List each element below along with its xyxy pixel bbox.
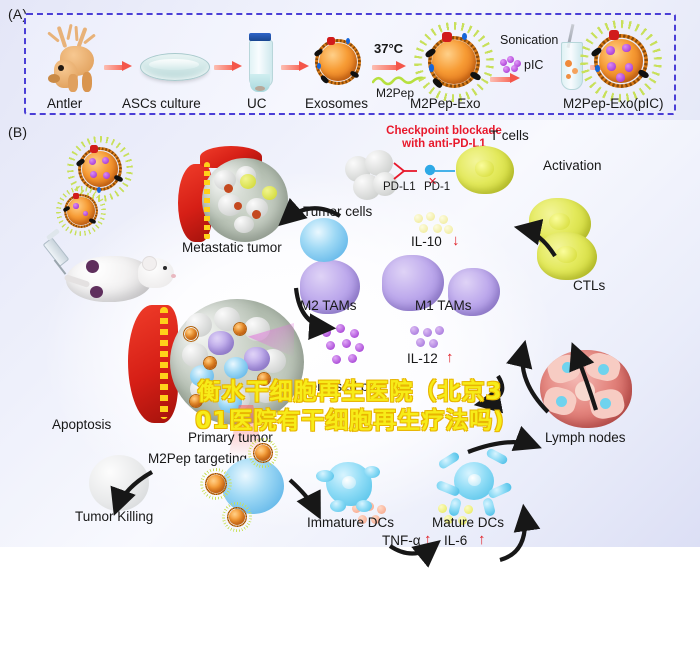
label-exosomes: Exosomes: [305, 96, 368, 111]
label-ascs-culture: ASCs culture: [122, 96, 201, 111]
centrifuge-tube-illustration: [249, 33, 271, 93]
label-il10: IL-10: [411, 234, 442, 249]
apoptotic-cell-illustration: [89, 455, 149, 511]
il12-up-arrow-icon: ↑: [446, 349, 454, 366]
primary-tumor-illustration: [128, 295, 318, 435]
label-apoptosis: Apoptosis: [52, 417, 111, 432]
label-sonication: Sonication: [500, 33, 558, 47]
panel-b-letter: (B): [8, 124, 27, 140]
m2pep-exosome-illustration: [424, 32, 484, 92]
label-m1-tams: M1 TAMs: [415, 298, 472, 313]
label-uc: UC: [247, 96, 267, 111]
arrow-culture-to-uc: [214, 62, 242, 71]
label-il6: IL-6: [444, 533, 467, 548]
label-metastatic-tumor: Metastatic tumor: [182, 240, 282, 255]
label-tumor-cells: Tumor cells: [303, 204, 372, 219]
label-m2pep-exo: M2Pep-Exo: [410, 96, 481, 111]
monocyte-cell: [300, 218, 348, 262]
il12-cytokine-cluster: [408, 326, 448, 352]
arrow-uc-to-exosomes: [281, 62, 309, 71]
tumor-cells-illustration: [343, 150, 399, 202]
metastatic-tumor-illustration: [178, 142, 298, 250]
ctl-cell-2: [537, 232, 597, 280]
label-m2pep: M2Pep: [376, 86, 414, 100]
label-mature-dcs: Mature DCs: [432, 515, 504, 530]
targeting-exosome-3: [226, 506, 248, 528]
panel-b: (B): [0, 120, 700, 547]
label-m2pep-exo-pic: M2Pep-Exo(pIC): [563, 96, 664, 111]
label-pd1: PD-1: [424, 181, 450, 193]
immature-dc-illustration: [316, 452, 382, 516]
label-activation: Activation: [543, 158, 602, 173]
label-pdl1: PD-L1: [383, 181, 416, 193]
antler-illustration: [42, 24, 120, 94]
targeting-exosome-1: [252, 442, 274, 464]
arrow-m2pepexo-to-sonication: [490, 74, 520, 83]
il10-down-arrow-icon: ↓: [452, 232, 460, 249]
label-released-pic: Released pIC: [300, 379, 382, 394]
label-immature-dcs: Immature DCs: [307, 515, 394, 530]
injected-exosome-small: [62, 192, 100, 230]
label-temperature: 37°C: [374, 41, 403, 56]
t-cell-illustration: [456, 146, 514, 194]
released-pic-cluster: [322, 324, 368, 370]
label-ctls: CTLs: [573, 278, 605, 293]
targeting-exosome-2: [204, 472, 228, 496]
mature-dc-illustration: [436, 446, 512, 516]
label-lymph-nodes: Lymph nodes: [545, 430, 626, 445]
figure-root: (A) Antler ASCs culture UC: [0, 0, 700, 547]
label-t-cells: T cells: [490, 128, 529, 143]
m2pep-exo-pic-illustration: [590, 30, 652, 92]
checkpoint-line-1: Checkpoint blockade: [386, 125, 502, 137]
arrow-exosome-to-m2pepexo: [372, 62, 406, 71]
lymph-node-illustration: [540, 350, 632, 428]
panel-a: (A) Antler ASCs culture UC: [0, 0, 700, 120]
arrow-antler-to-culture: [104, 62, 132, 71]
tnf-up-arrow-icon: ↑: [424, 531, 432, 548]
petri-dish-illustration: [140, 53, 210, 81]
il6-up-arrow-icon: ↑: [478, 531, 486, 548]
label-il12: IL-12: [407, 351, 438, 366]
pdl1-receptor-icon: [392, 160, 418, 182]
label-tumor-killing: Tumor Killing: [75, 509, 153, 524]
label-tnf-alpha: TNF-α: [382, 533, 421, 548]
label-pic: pIC: [524, 58, 543, 72]
exosome-illustration: [312, 36, 364, 88]
label-antler: Antler: [47, 96, 82, 111]
